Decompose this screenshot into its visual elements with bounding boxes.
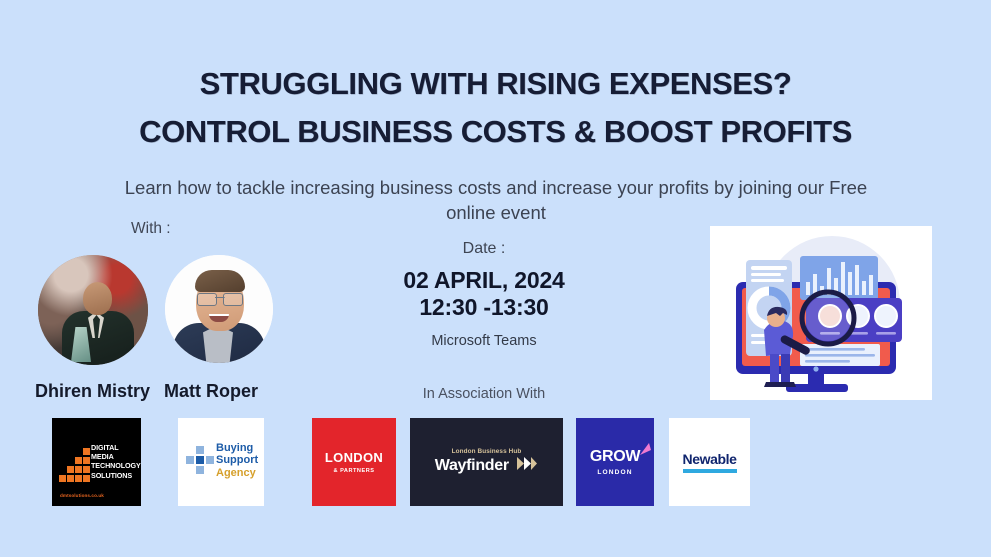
logo-newable: Newable bbox=[669, 418, 750, 506]
avatar-matt-roper bbox=[165, 255, 273, 363]
dmts-line-3: TECHNOLOGY bbox=[91, 461, 141, 470]
logo-digital-media-technology-solutions: DIGITAL MEDIA TECHNOLOGY SOLUTIONS dmtso… bbox=[52, 418, 141, 506]
logo-london-and-partners: LONDON & PARTNERS bbox=[312, 418, 396, 506]
poster-canvas: STRUGGLING WITH RISING EXPENSES? CONTROL… bbox=[0, 0, 991, 557]
glasses-icon bbox=[197, 293, 243, 304]
photo-head bbox=[83, 282, 112, 315]
london-partners-line-1: LONDON bbox=[325, 450, 383, 465]
logo-buying-support-agency: Buying Support Agency bbox=[178, 418, 264, 506]
speaker-names: Dhiren Mistry Matt Roper bbox=[35, 381, 290, 402]
illustration-svg bbox=[710, 226, 932, 400]
partner-logos: DIGITAL MEDIA TECHNOLOGY SOLUTIONS dmtso… bbox=[0, 418, 991, 506]
page-title: STRUGGLING WITH RISING EXPENSES? CONTROL… bbox=[0, 66, 991, 150]
chevron-right-icon bbox=[516, 456, 538, 476]
bsa-line-2: Support bbox=[216, 454, 258, 466]
newable-underline bbox=[683, 469, 737, 473]
wayfinder-line-2: Wayfinder bbox=[435, 457, 509, 475]
bsa-line-3: Agency bbox=[216, 467, 258, 479]
event-date: 02 APRIL, 2024 bbox=[384, 267, 584, 294]
speaker-name-2: Matt Roper bbox=[164, 381, 258, 402]
subtitle-text: Learn how to tackle increasing business … bbox=[115, 176, 877, 226]
speakers-label: With : bbox=[131, 220, 171, 238]
bsa-cross-mark bbox=[186, 446, 214, 476]
event-time: 12:30 -13:30 bbox=[384, 294, 584, 321]
dmts-wordmark: DIGITAL MEDIA TECHNOLOGY SOLUTIONS bbox=[91, 443, 141, 480]
logo-grow-london: GROW LONDON bbox=[576, 418, 654, 506]
dmts-url: dmtsolutions.co.uk bbox=[60, 493, 104, 498]
dmts-bar-mark bbox=[59, 448, 89, 482]
date-label: Date : bbox=[384, 240, 584, 258]
headline-line-2: CONTROL BUSINESS COSTS & BOOST PROFITS bbox=[0, 114, 991, 151]
wayfinder-line-1: London Business Hub bbox=[435, 448, 539, 455]
newable-wordmark: Newable bbox=[683, 451, 737, 467]
photo-hair bbox=[195, 270, 245, 292]
bsa-wordmark: Buying Support Agency bbox=[216, 442, 258, 479]
association-label: In Association With bbox=[384, 386, 584, 402]
speaker-name-1: Dhiren Mistry bbox=[35, 381, 150, 402]
dmts-line-4: SOLUTIONS bbox=[91, 471, 141, 480]
logo-london-business-hub-wayfinder: London Business Hub Wayfinder bbox=[410, 418, 563, 506]
london-partners-line-2: & PARTNERS bbox=[325, 468, 383, 474]
event-details: Date : 02 APRIL, 2024 12:30 -13:30 Micro… bbox=[384, 240, 584, 349]
bsa-line-1: Buying bbox=[216, 442, 258, 454]
grow-line-1: GROW bbox=[590, 448, 640, 466]
dmts-line-2: MEDIA bbox=[91, 452, 141, 461]
event-platform: Microsoft Teams bbox=[384, 333, 584, 349]
avatar-dhiren-mistry bbox=[38, 255, 148, 365]
headline-line-1: STRUGGLING WITH RISING EXPENSES? bbox=[0, 66, 991, 103]
business-analytics-illustration bbox=[710, 226, 932, 400]
grow-line-2: LONDON bbox=[590, 469, 640, 476]
arrow-up-right-icon bbox=[638, 441, 652, 462]
dmts-line-1: DIGITAL bbox=[91, 443, 141, 452]
